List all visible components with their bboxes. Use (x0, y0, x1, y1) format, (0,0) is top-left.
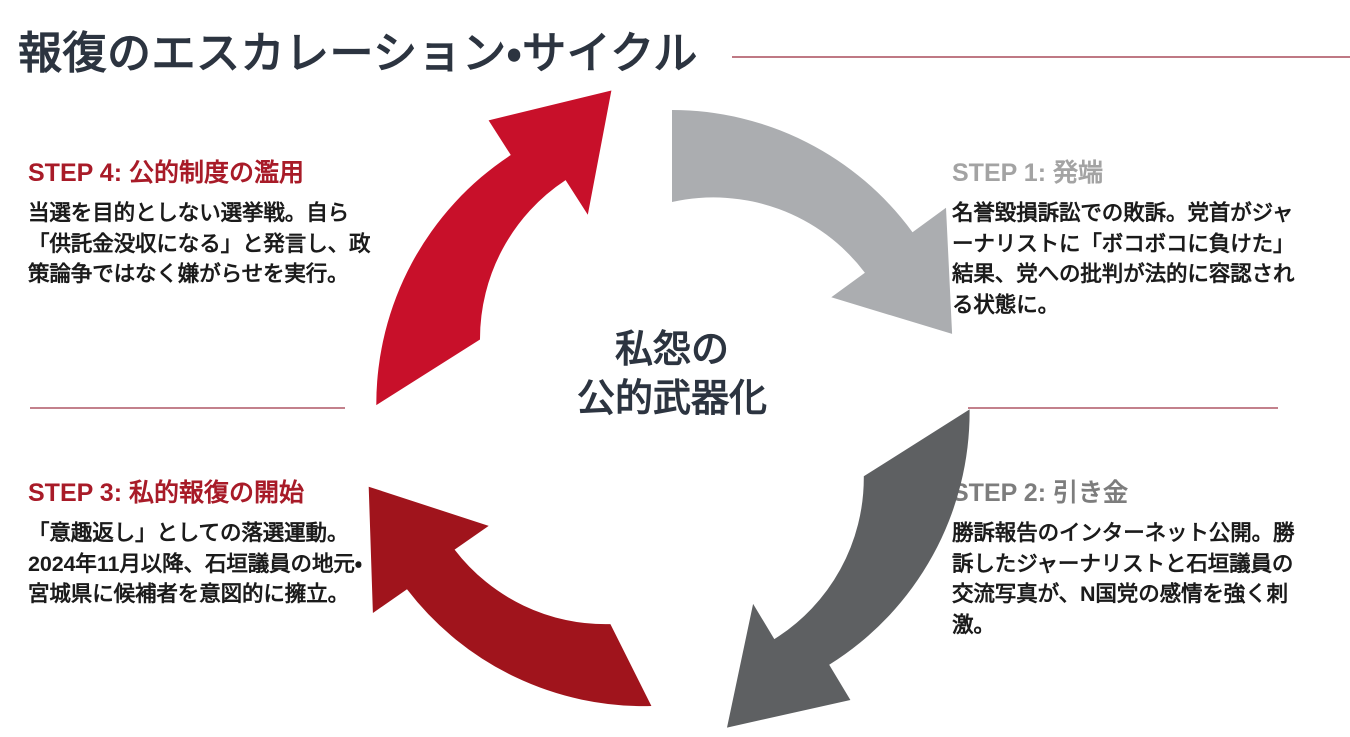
step-block-step4: STEP 4: 公的制度の濫用 当選を目的としない選挙戦。自ら「供託金没収になる… (28, 158, 376, 290)
step-body-step2: 勝訴報告のインターネット公開。勝訴したジャーナリストと石垣議員の交流写真が、N国… (952, 518, 1300, 640)
title-rule-divider (732, 56, 1350, 58)
step-heading-step3: STEP 3: 私的報復の開始 (28, 478, 376, 508)
step-heading-step1: STEP 1: 発端 (952, 158, 1300, 188)
step-heading-step4: STEP 4: 公的制度の濫用 (28, 158, 376, 188)
cycle-arrow-step1 (672, 110, 952, 334)
divider-left (30, 407, 345, 409)
cycle-arrow-group (369, 91, 970, 728)
step-heading-step2: STEP 2: 引き金 (952, 478, 1300, 508)
step-block-step2: STEP 2: 引き金 勝訴報告のインターネット公開。勝訴したジャーナリストと石… (952, 478, 1300, 640)
cycle-arrow-step3 (369, 487, 652, 706)
cycle-arrow-step2 (727, 409, 970, 727)
title-row: 報復のエスカレーション・サイクル (0, 18, 1350, 90)
infographic-slide: 報復のエスカレーション・サイクル STEP 4: 公的制度の濫用 当選を目的とし… (0, 0, 1350, 737)
divider-right (968, 407, 1278, 409)
step-body-step3: 「意趣返し」としての落選運動。2024年11月以降、石垣議員の地元・宮城県に候補… (28, 518, 376, 610)
step-block-step1: STEP 1: 発端 名誉毀損訴訟での敗訴。党首がジャーナリストに「ボコボコに負… (952, 158, 1300, 320)
step-block-step3: STEP 3: 私的報復の開始 「意趣返し」としての落選運動。2024年11月以… (28, 478, 376, 610)
step-body-step1: 名誉毀損訴訟での敗訴。党首がジャーナリストに「ボコボコに負けた」結果、党への批判… (952, 198, 1300, 320)
cycle-diagram: 私怨の 公的武器化 (352, 88, 992, 728)
page-title: 報復のエスカレーション・サイクル (18, 30, 698, 78)
cycle-arrow-step4 (376, 91, 611, 406)
cycle-arrows-svg (352, 88, 992, 728)
step-body-step4: 当選を目的としない選挙戦。自ら「供託金没収になる」と発言し、政策論争ではなく嫌が… (28, 198, 376, 290)
